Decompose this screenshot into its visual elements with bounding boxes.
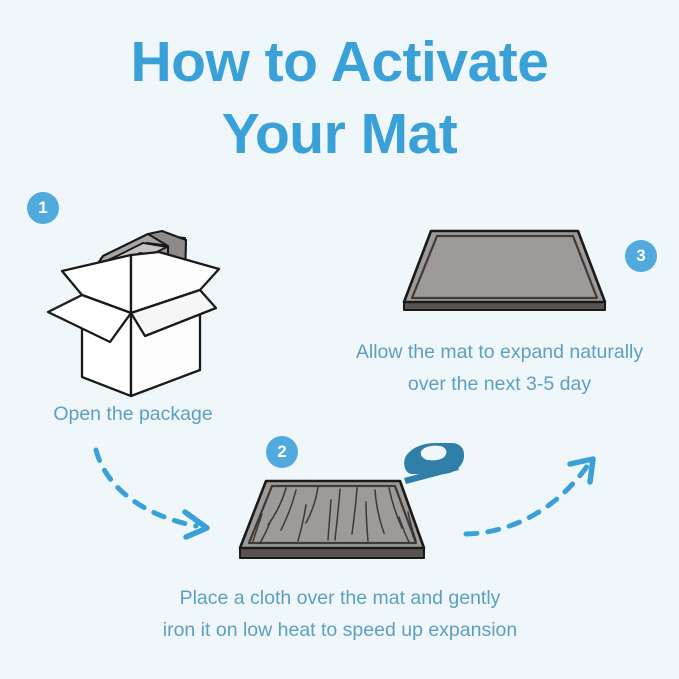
infographic-canvas: How to Activate Your Mat [0,0,679,679]
step-badge-3: 3 [625,240,657,272]
expanded-mat-illustration [404,231,605,310]
iron-icon [404,443,464,484]
page-title-line-2: Your Mat [0,98,679,170]
page-title-line-1: How to Activate [0,26,679,98]
step-badge-1: 1 [27,192,59,224]
step-1-caption-line-1: Open the package [0,398,266,430]
step-2-caption: Place a cloth over the mat and gently ir… [110,582,570,646]
step-1-caption: Open the package [0,398,266,430]
arrow-step1-to-step2 [96,450,207,537]
box-illustration [48,231,219,396]
rolled-mat-bundle [97,231,186,298]
step-3-caption-line-2: over the next 3-5 day [320,368,679,400]
step-3-caption: Allow the mat to expand naturally over t… [320,336,679,400]
arrow-step2-to-step3 [466,459,593,534]
textured-mat-illustration [240,481,424,558]
step-badge-2: 2 [266,436,298,468]
step-2-caption-line-1: Place a cloth over the mat and gently [110,582,570,614]
page-title: How to Activate Your Mat [0,26,679,170]
step-3-caption-line-1: Allow the mat to expand naturally [320,336,679,368]
step-2-caption-line-2: iron it on low heat to speed up expansio… [110,614,570,646]
